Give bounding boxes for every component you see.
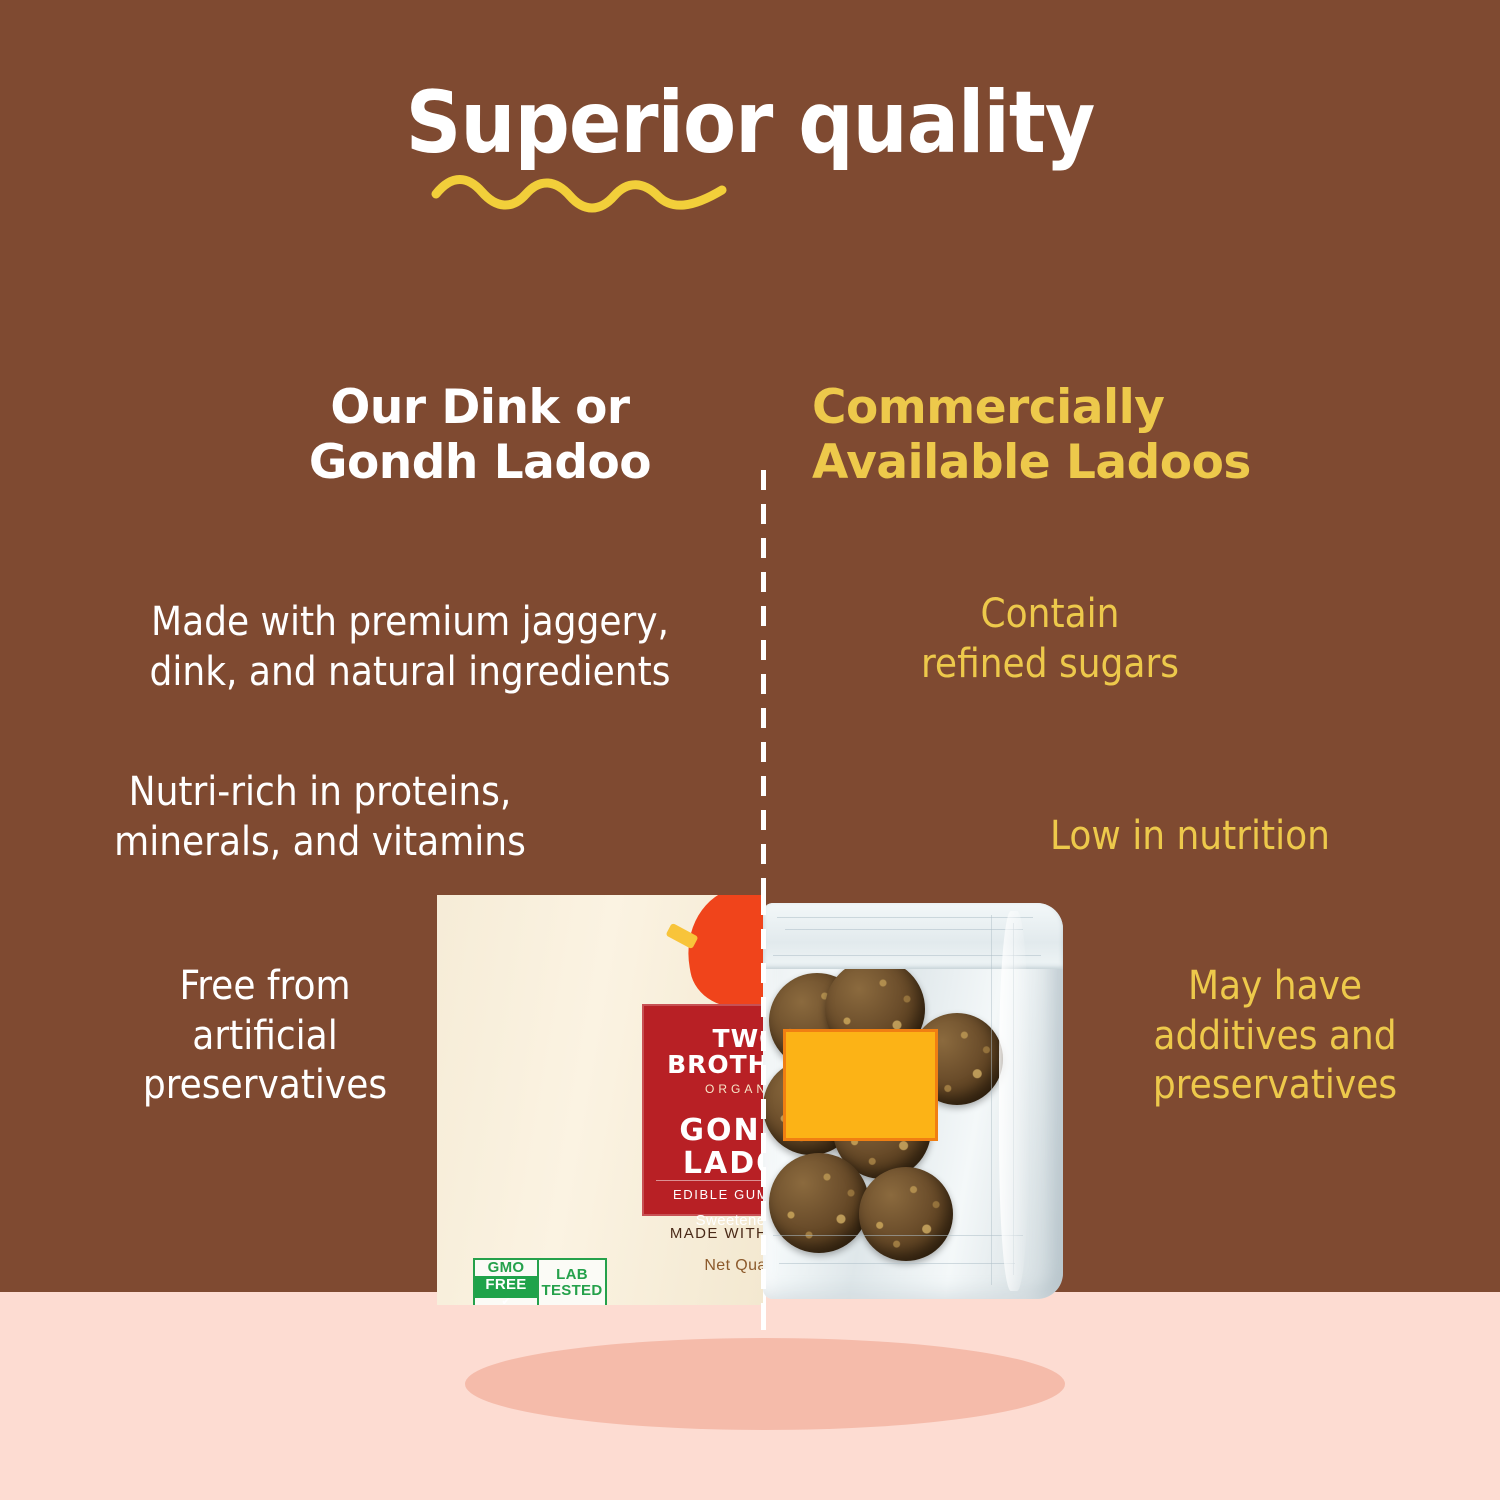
product-subtitle: EDIBLE GUM DRY F <box>642 1187 763 1202</box>
peacock-logo-icon <box>677 895 763 1017</box>
organic-tagline: ORGANIC <box>642 1082 763 1096</box>
column-divider-overlay <box>761 895 766 1330</box>
right-feature-2: Low in nutrition <box>960 812 1420 862</box>
ladoo-ball <box>859 1167 953 1261</box>
label-divider <box>656 1180 763 1181</box>
product-tub-right <box>763 895 1063 1305</box>
comparison-infographic: Superior quality Our Dink or Gondh Ladoo… <box>0 0 1500 1500</box>
tub-rib <box>785 929 1023 930</box>
lab-badge-top: LAB <box>556 1267 588 1283</box>
brand-name: TWO BROTHERS <box>642 1026 763 1078</box>
lab-badge-bottom: TESTED <box>542 1283 603 1299</box>
certification-badges: GMO FREE ✔ LAB TESTED <box>473 1258 607 1305</box>
product-name: GONDH LADOO <box>642 1114 763 1180</box>
left-feature-2: Nutri-rich in proteins, minerals, and vi… <box>60 768 580 867</box>
left-feature-1: Made with premium jaggery, dink, and nat… <box>100 598 720 697</box>
gmo-badge-bottom: FREE <box>475 1276 537 1298</box>
tub-highlight <box>999 911 1029 1291</box>
left-feature-3: Free from artificial preservatives <box>100 962 430 1111</box>
tub-rib <box>773 955 1041 956</box>
right-feature-1: Contain refined sugars <box>860 590 1240 689</box>
right-feature-3: May have additives and preservatives <box>1080 962 1470 1111</box>
page-title: Superior quality <box>0 78 1500 168</box>
tub-vertical-rib <box>991 915 992 1285</box>
check-icon: ✔ <box>501 1298 510 1305</box>
lab-tested-badge: LAB TESTED <box>537 1260 605 1305</box>
gmo-free-badge: GMO FREE ✔ <box>475 1260 537 1305</box>
tub-price-sticker <box>783 1029 938 1141</box>
right-column-heading: Commercially Available Ladoos <box>812 380 1282 491</box>
made-with-text: MADE WITH A2 CU <box>627 1225 763 1242</box>
squiggle-underline-icon <box>430 168 730 214</box>
gmo-badge-top: GMO <box>488 1260 525 1276</box>
product-label: TWO BROTHERS ORGANIC GONDH LADOO EDIBLE … <box>642 1004 763 1216</box>
tub-rib <box>773 1235 1023 1236</box>
product-box-left: TWO BROTHERS ORGANIC GONDH LADOO EDIBLE … <box>437 895 763 1305</box>
left-column-heading: Our Dink or Gondh Ladoo <box>250 380 710 491</box>
ladoo-ball <box>769 1153 869 1253</box>
product-shadow <box>465 1338 1065 1430</box>
net-quantity-text: Net Quantit <box>627 1257 763 1275</box>
tub-rib <box>777 917 1033 918</box>
tub-rib <box>779 1263 1015 1264</box>
